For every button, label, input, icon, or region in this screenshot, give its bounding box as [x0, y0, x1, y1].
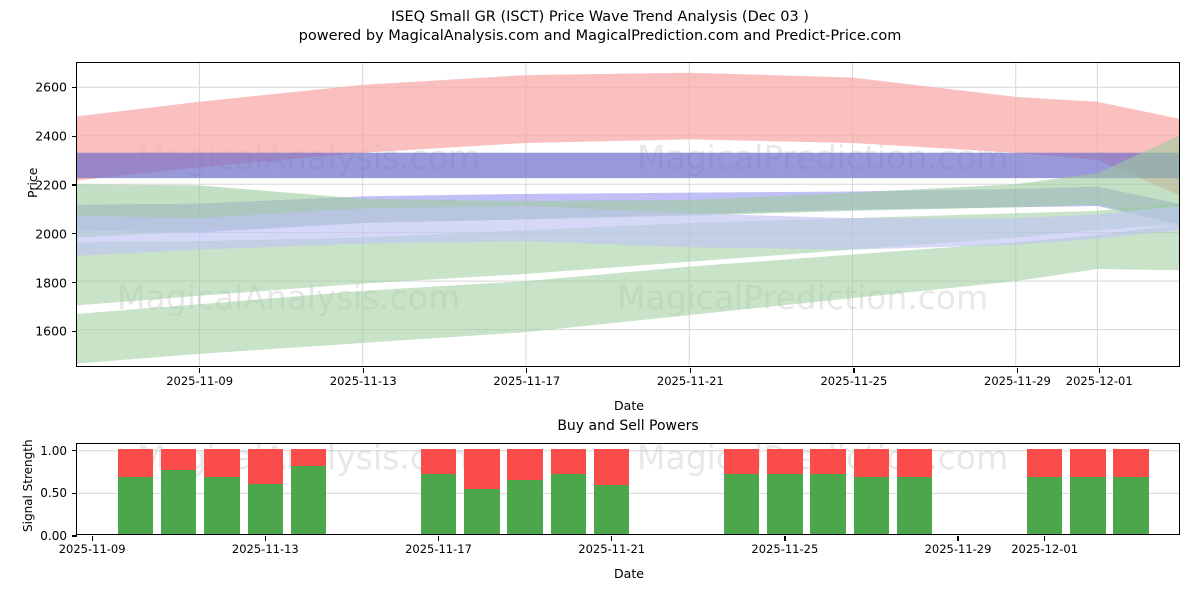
sell-power-segment [897, 449, 933, 477]
sell-power-segment [594, 449, 630, 485]
power-bar [724, 449, 760, 534]
sell-power-segment [118, 449, 154, 477]
price-y-tick-mark [72, 136, 77, 137]
power-bar [854, 449, 890, 534]
sell-power-segment [854, 449, 890, 477]
price-x-tick-label: 2025-11-25 [820, 374, 887, 388]
powers-y-tick-mark [72, 535, 77, 536]
buy-power-segment [767, 474, 803, 534]
sell-power-segment [248, 449, 284, 484]
powers-x-tick-mark [957, 536, 958, 541]
power-bar [1070, 449, 1106, 534]
price-x-tick-label: 2025-11-13 [330, 374, 397, 388]
price-y-tick-mark [72, 184, 77, 185]
powers-chart-axes: MagicalAnalysis.comMagicalPrediction.com… [76, 443, 1180, 535]
price-x-tick-mark [853, 368, 854, 373]
price-x-tick-mark [363, 368, 364, 373]
buy-power-segment [551, 474, 587, 534]
power-bar [897, 449, 933, 534]
powers-chart-title: Buy and Sell Powers [76, 418, 1180, 434]
power-bar [551, 449, 587, 534]
sell-power-segment [1113, 449, 1149, 477]
powers-x-tick-mark [438, 536, 439, 541]
buy-power-segment [248, 484, 284, 534]
buy-power-segment [464, 489, 500, 534]
powers-x-tick-label: 2025-11-21 [578, 542, 645, 556]
price-chart-x-axis-label: Date [77, 398, 1181, 413]
powers-x-tick-label: 2025-11-13 [232, 542, 299, 556]
price-y-tick-mark [72, 331, 77, 332]
sell-power-segment [724, 449, 760, 475]
price-x-tick-label: 2025-12-01 [1066, 374, 1133, 388]
buy-power-segment [507, 480, 543, 534]
buy-power-segment [421, 474, 457, 534]
page-title: ISEQ Small GR (ISCT) Price Wave Trend An… [0, 8, 1200, 27]
power-bar [810, 449, 846, 534]
price-chart-plot-area: MagicalAnalysis.comMagicalPrediction.com… [77, 63, 1179, 366]
powers-chart-x-axis-label: Date [77, 566, 1181, 581]
price-x-tick-label: 2025-11-17 [493, 374, 560, 388]
price-y-tick-label: 1600 [0, 324, 67, 339]
power-bar [507, 449, 543, 534]
buy-power-segment [724, 474, 760, 534]
price-x-tick-mark [526, 368, 527, 373]
sell-power-segment [204, 449, 240, 477]
powers-x-tick-label: 2025-11-25 [751, 542, 818, 556]
powers-y-tick-mark [72, 493, 77, 494]
buy-power-segment [291, 466, 327, 534]
power-bar [248, 449, 284, 534]
sell-power-segment [464, 449, 500, 489]
price-y-tick-mark [72, 87, 77, 88]
power-bar [291, 449, 327, 534]
sell-power-segment [1070, 449, 1106, 477]
power-bar [464, 449, 500, 534]
price-y-tick-mark [72, 233, 77, 234]
price-y-tick-label: 2000 [0, 226, 67, 241]
power-bar [767, 449, 803, 534]
buy-power-segment [897, 477, 933, 534]
price-y-tick-mark [72, 282, 77, 283]
powers-x-tick-mark [784, 536, 785, 541]
powers-y-tick-mark [72, 450, 77, 451]
page-subtitle: powered by MagicalAnalysis.com and Magic… [0, 27, 1200, 46]
powers-chart-plot-area: MagicalAnalysis.comMagicalPrediction.com [77, 444, 1179, 534]
price-x-tick-mark [690, 368, 691, 373]
power-bar [204, 449, 240, 534]
price-x-tick-mark [199, 368, 200, 373]
powers-chart-y-axis-label: Signal Strength [21, 439, 35, 532]
price-x-tick-mark [1017, 368, 1018, 373]
buy-power-segment [1027, 477, 1063, 534]
power-bar [1027, 449, 1063, 534]
price-chart-bands [77, 63, 1179, 366]
price-y-tick-label: 2600 [0, 80, 67, 95]
buy-power-segment [118, 477, 154, 534]
sell-power-segment [291, 449, 327, 466]
price-y-tick-label: 1800 [0, 275, 67, 290]
buy-power-segment [161, 470, 197, 534]
title-block: ISEQ Small GR (ISCT) Price Wave Trend An… [0, 8, 1200, 46]
price-x-tick-label: 2025-11-29 [984, 374, 1051, 388]
buy-power-segment [810, 474, 846, 534]
sell-power-segment [161, 449, 197, 470]
power-bar [421, 449, 457, 534]
price-y-tick-label: 2400 [0, 129, 67, 144]
buy-power-segment [594, 485, 630, 534]
sell-power-segment [1027, 449, 1063, 477]
sell-power-segment [507, 449, 543, 481]
buy-power-segment [204, 477, 240, 534]
powers-x-tick-mark [265, 536, 266, 541]
price-x-tick-label: 2025-11-21 [657, 374, 724, 388]
chart-page: ISEQ Small GR (ISCT) Price Wave Trend An… [0, 0, 1200, 600]
price-x-tick-mark [1099, 368, 1100, 373]
sell-power-segment [810, 449, 846, 475]
power-bar [161, 449, 197, 534]
powers-x-tick-mark [92, 536, 93, 541]
powers-x-tick-mark [1044, 536, 1045, 541]
price-x-tick-label: 2025-11-09 [166, 374, 233, 388]
power-bar [1113, 449, 1149, 534]
powers-x-tick-label: 2025-12-01 [1011, 542, 1078, 556]
power-bar [118, 449, 154, 534]
powers-x-tick-mark [611, 536, 612, 541]
buy-power-segment [1070, 477, 1106, 534]
buy-power-segment [854, 477, 890, 534]
price-chart-axes: MagicalAnalysis.comMagicalPrediction.com… [76, 62, 1180, 367]
buy-power-segment [1113, 477, 1149, 534]
sell-power-segment [421, 449, 457, 475]
powers-x-tick-label: 2025-11-29 [925, 542, 992, 556]
powers-x-tick-label: 2025-11-17 [405, 542, 472, 556]
power-bar [594, 449, 630, 534]
price-chart-y-axis-label: Price [25, 168, 40, 199]
powers-x-tick-label: 2025-11-09 [59, 542, 126, 556]
sell-power-segment [767, 449, 803, 475]
sell-power-segment [551, 449, 587, 475]
